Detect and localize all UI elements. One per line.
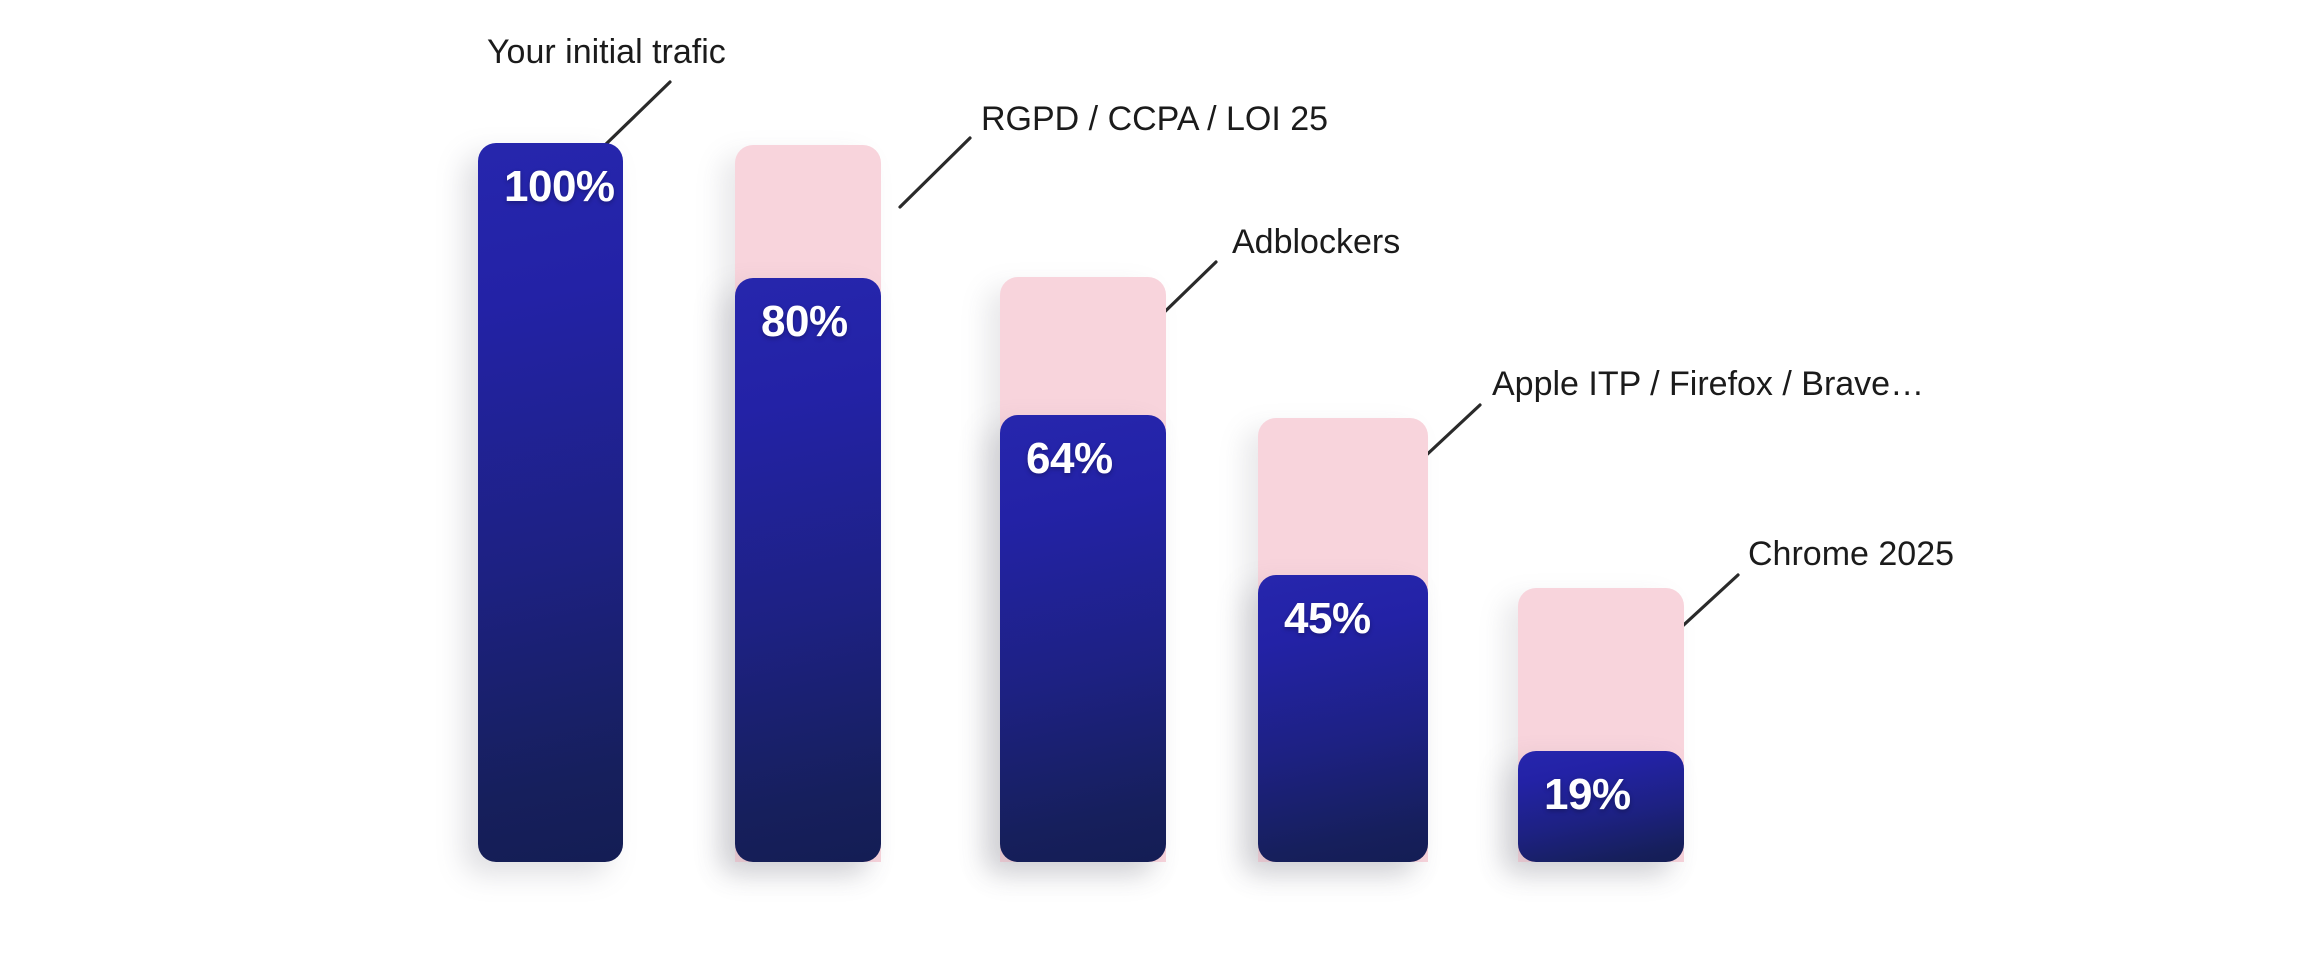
bar-remaining-segment-5[interactable]: 19% (1518, 751, 1684, 862)
bar-remaining-segment-1[interactable]: 100% (478, 143, 623, 862)
chart-canvas: 100% 80% 64% 45% 19% Your initial trafic… (0, 0, 2310, 964)
callout-label-1: Your initial trafic (487, 34, 726, 71)
leader-line-1 (604, 82, 670, 146)
callout-label-2: RGPD / CCPA / LOI 25 (981, 101, 1328, 138)
bar-value-label-4: 45% (1284, 597, 1371, 641)
bar-remaining-segment-2[interactable]: 80% (735, 278, 881, 862)
bar-group-2: 80% (735, 145, 881, 862)
bar-group-4: 45% (1258, 418, 1428, 862)
bar-group-1: 100% (478, 143, 623, 862)
bar-remaining-segment-4[interactable]: 45% (1258, 575, 1428, 862)
bar-group-5: 19% (1518, 588, 1684, 862)
callout-label-3: Adblockers (1232, 224, 1400, 261)
bar-value-label-5: 19% (1544, 773, 1631, 817)
bar-value-label-3: 64% (1026, 437, 1113, 481)
bar-remaining-segment-3[interactable]: 64% (1000, 415, 1166, 862)
callout-label-4: Apple ITP / Firefox / Brave… (1492, 366, 1924, 403)
bar-value-label-1: 100% (504, 165, 615, 209)
bar-group-3: 64% (1000, 277, 1166, 862)
leader-line-2 (900, 138, 970, 207)
bar-value-label-2: 80% (761, 300, 848, 344)
callout-label-5: Chrome 2025 (1748, 536, 1954, 573)
